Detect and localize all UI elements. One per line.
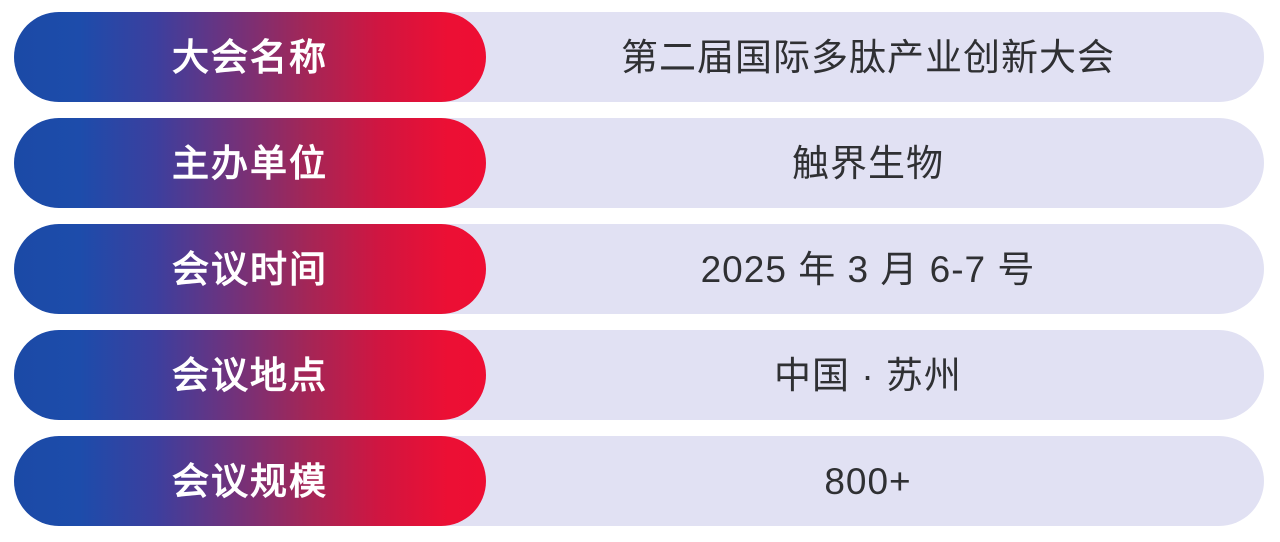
table-row: 会议时间 2025 年 3 月 6-7 号 — [0, 224, 1280, 314]
row-value-text: 触界生物 — [792, 145, 944, 182]
row-value-conference-name: 第二届国际多肽产业创新大会 — [486, 12, 1280, 102]
row-label-pill-conference-scale: 会议规模 — [14, 436, 486, 526]
table-row: 主办单位 触界生物 — [0, 118, 1280, 208]
row-value-text: 2025 年 3 月 6-7 号 — [701, 251, 1036, 288]
row-label-text: 会议时间 — [172, 251, 328, 288]
table-row: 大会名称 第二届国际多肽产业创新大会 — [0, 12, 1280, 102]
row-label-pill-organizer: 主办单位 — [14, 118, 486, 208]
row-label-text: 主办单位 — [172, 145, 328, 182]
row-value-conference-location: 中国 · 苏州 — [486, 330, 1280, 420]
table-row: 会议规模 800+ — [0, 436, 1280, 526]
row-label-text: 会议地点 — [172, 357, 328, 394]
row-label-text: 大会名称 — [172, 39, 328, 76]
row-value-organizer: 触界生物 — [486, 118, 1280, 208]
row-value-text: 800+ — [824, 463, 911, 500]
row-value-conference-date: 2025 年 3 月 6-7 号 — [486, 224, 1280, 314]
row-value-conference-scale: 800+ — [486, 436, 1280, 526]
row-label-pill-conference-date: 会议时间 — [14, 224, 486, 314]
row-label-text: 会议规模 — [172, 463, 328, 500]
row-label-pill-conference-location: 会议地点 — [14, 330, 486, 420]
row-value-text: 第二届国际多肽产业创新大会 — [621, 39, 1115, 76]
table-row: 会议地点 中国 · 苏州 — [0, 330, 1280, 420]
row-value-text: 中国 · 苏州 — [774, 357, 962, 394]
row-label-pill-conference-name: 大会名称 — [14, 12, 486, 102]
conference-info-table: 大会名称 第二届国际多肽产业创新大会 主办单位 触界生物 会议时间 2025 年… — [0, 0, 1280, 542]
